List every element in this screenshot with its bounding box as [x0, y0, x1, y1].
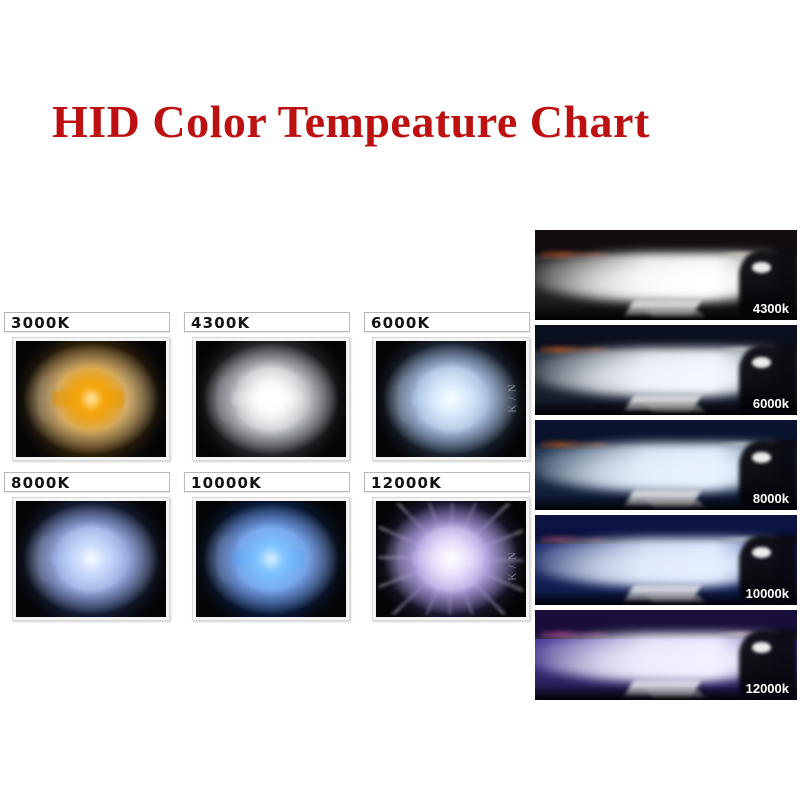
road-beam-photo-10000k: 10000k — [535, 515, 797, 605]
bulb-label-text: 6000K — [371, 315, 430, 331]
bulb-light-core — [237, 525, 306, 592]
bulb-panel-4300k: 4300K — [184, 312, 352, 464]
bulb-photo — [196, 341, 346, 457]
bulb-image-frame — [192, 497, 350, 621]
bulb-label-bar: 4300K — [184, 312, 350, 332]
road-beam-photo-8000k: 8000k — [535, 420, 797, 510]
bulb-photo — [196, 501, 346, 617]
bulb-image-frame — [192, 337, 350, 461]
bulb-panel-8000k: 8000K — [4, 472, 172, 624]
bulb-light-core — [57, 365, 126, 432]
bulb-label-bar: 8000K — [4, 472, 170, 492]
bulb-light-core — [57, 525, 126, 592]
road-light-beam-core — [545, 363, 749, 394]
bulb-panel-10000k: 10000K — [184, 472, 352, 624]
road-temperature-label: 8000k — [753, 491, 789, 506]
bulb-light-core — [417, 525, 486, 592]
watermark-lower: K / N — [507, 551, 519, 580]
bulb-photo — [16, 501, 166, 617]
bulb-label-bar: 12000K — [364, 472, 530, 492]
road-temperature-label: 12000k — [746, 681, 789, 696]
page-title: HID Color Tempeature Chart — [52, 96, 650, 148]
road-beam-column: 4300k6000k8000k10000k12000k — [535, 230, 797, 702]
road-light-beam-core — [545, 458, 749, 489]
bulb-image-frame — [12, 337, 170, 461]
road-beam-photo-4300k: 4300k — [535, 230, 797, 320]
watermark-upper: K / N — [507, 383, 519, 412]
road-temperature-label: 10000k — [746, 586, 789, 601]
bulb-label-bar: 3000K — [4, 312, 170, 332]
bulb-photo — [376, 341, 526, 457]
bulb-light-core — [417, 365, 486, 432]
bulb-image-frame — [12, 497, 170, 621]
bulb-panel-12000k: 12000K — [364, 472, 532, 624]
road-beam-photo-6000k: 6000k — [535, 325, 797, 415]
bulb-label-text: 12000K — [371, 475, 442, 491]
road-beam-photo-12000k: 12000k — [535, 610, 797, 700]
road-light-beam-core — [545, 268, 749, 299]
bulb-label-text: 10000K — [191, 475, 262, 491]
road-temperature-label: 4300k — [753, 301, 789, 316]
road-temperature-label: 6000k — [753, 396, 789, 411]
bulb-photo — [16, 341, 166, 457]
bulb-label-bar: 6000K — [364, 312, 530, 332]
bulb-panel-3000k: 3000K — [4, 312, 172, 464]
bulb-label-text: 3000K — [11, 315, 70, 331]
bulb-label-bar: 10000K — [184, 472, 350, 492]
bulb-label-text: 8000K — [11, 475, 70, 491]
bulb-light-core — [237, 365, 306, 432]
bulb-photo — [376, 501, 526, 617]
road-light-beam-core — [545, 648, 749, 679]
road-light-beam-core — [545, 553, 749, 584]
bulb-label-text: 4300K — [191, 315, 250, 331]
bulb-grid: 3000K4300K6000K8000K10000K12000K — [4, 312, 528, 630]
